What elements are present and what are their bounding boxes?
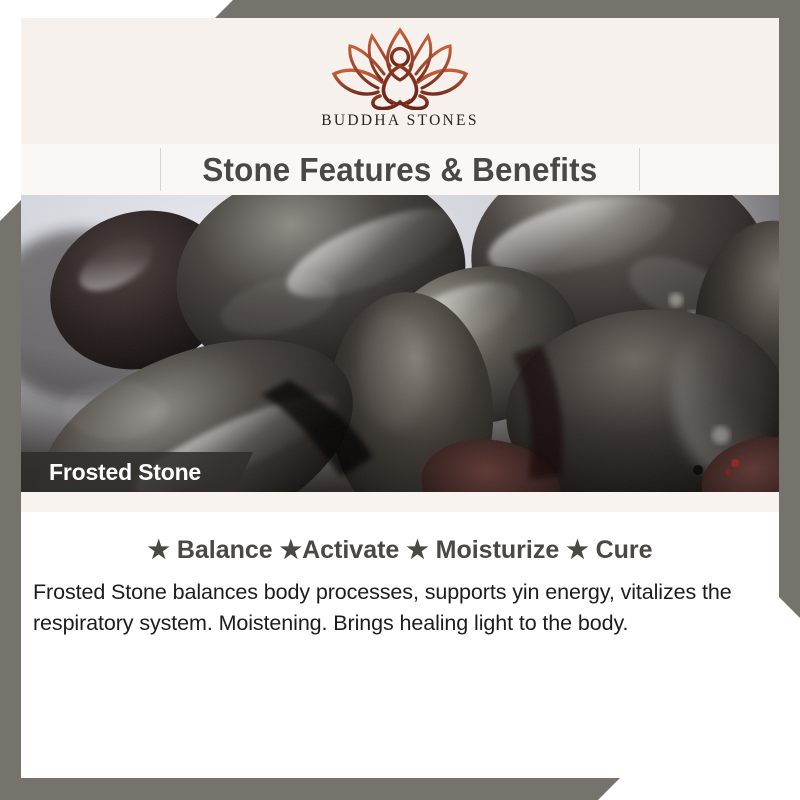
header: BUDDHA STONES Stone Features & Benefits bbox=[21, 18, 779, 195]
brand-name: BUDDHA STONES bbox=[315, 112, 485, 130]
frame-bar-bottom bbox=[0, 778, 620, 800]
photo-caption-banner: Frosted Stone bbox=[21, 452, 253, 492]
stone-illustration bbox=[21, 195, 779, 492]
description-text: Frosted Stone balances body processes, s… bbox=[33, 577, 767, 639]
frame-bar-right bbox=[779, 0, 800, 618]
frosted-stone-photo: Frosted Stone bbox=[21, 195, 779, 492]
frame-bar-top bbox=[215, 0, 800, 18]
title-band: Stone Features & Benefits bbox=[21, 144, 779, 195]
page-title: Stone Features & Benefits bbox=[203, 151, 598, 189]
content-section: ★ Balance ★Activate ★ Moisturize ★ Cure … bbox=[21, 492, 779, 778]
benefits-line: ★ Balance ★Activate ★ Moisturize ★ Cure bbox=[21, 535, 779, 565]
frame-bar-left bbox=[0, 200, 21, 800]
lotus-meditation-icon bbox=[320, 24, 480, 110]
photo-caption-text: Frosted Stone bbox=[21, 459, 201, 486]
brand-logo: BUDDHA STONES bbox=[315, 24, 485, 130]
content-card: BUDDHA STONES Stone Features & Benefits bbox=[21, 18, 779, 778]
content-top-strip bbox=[21, 492, 779, 512]
infographic-page: BUDDHA STONES Stone Features & Benefits bbox=[0, 0, 800, 800]
